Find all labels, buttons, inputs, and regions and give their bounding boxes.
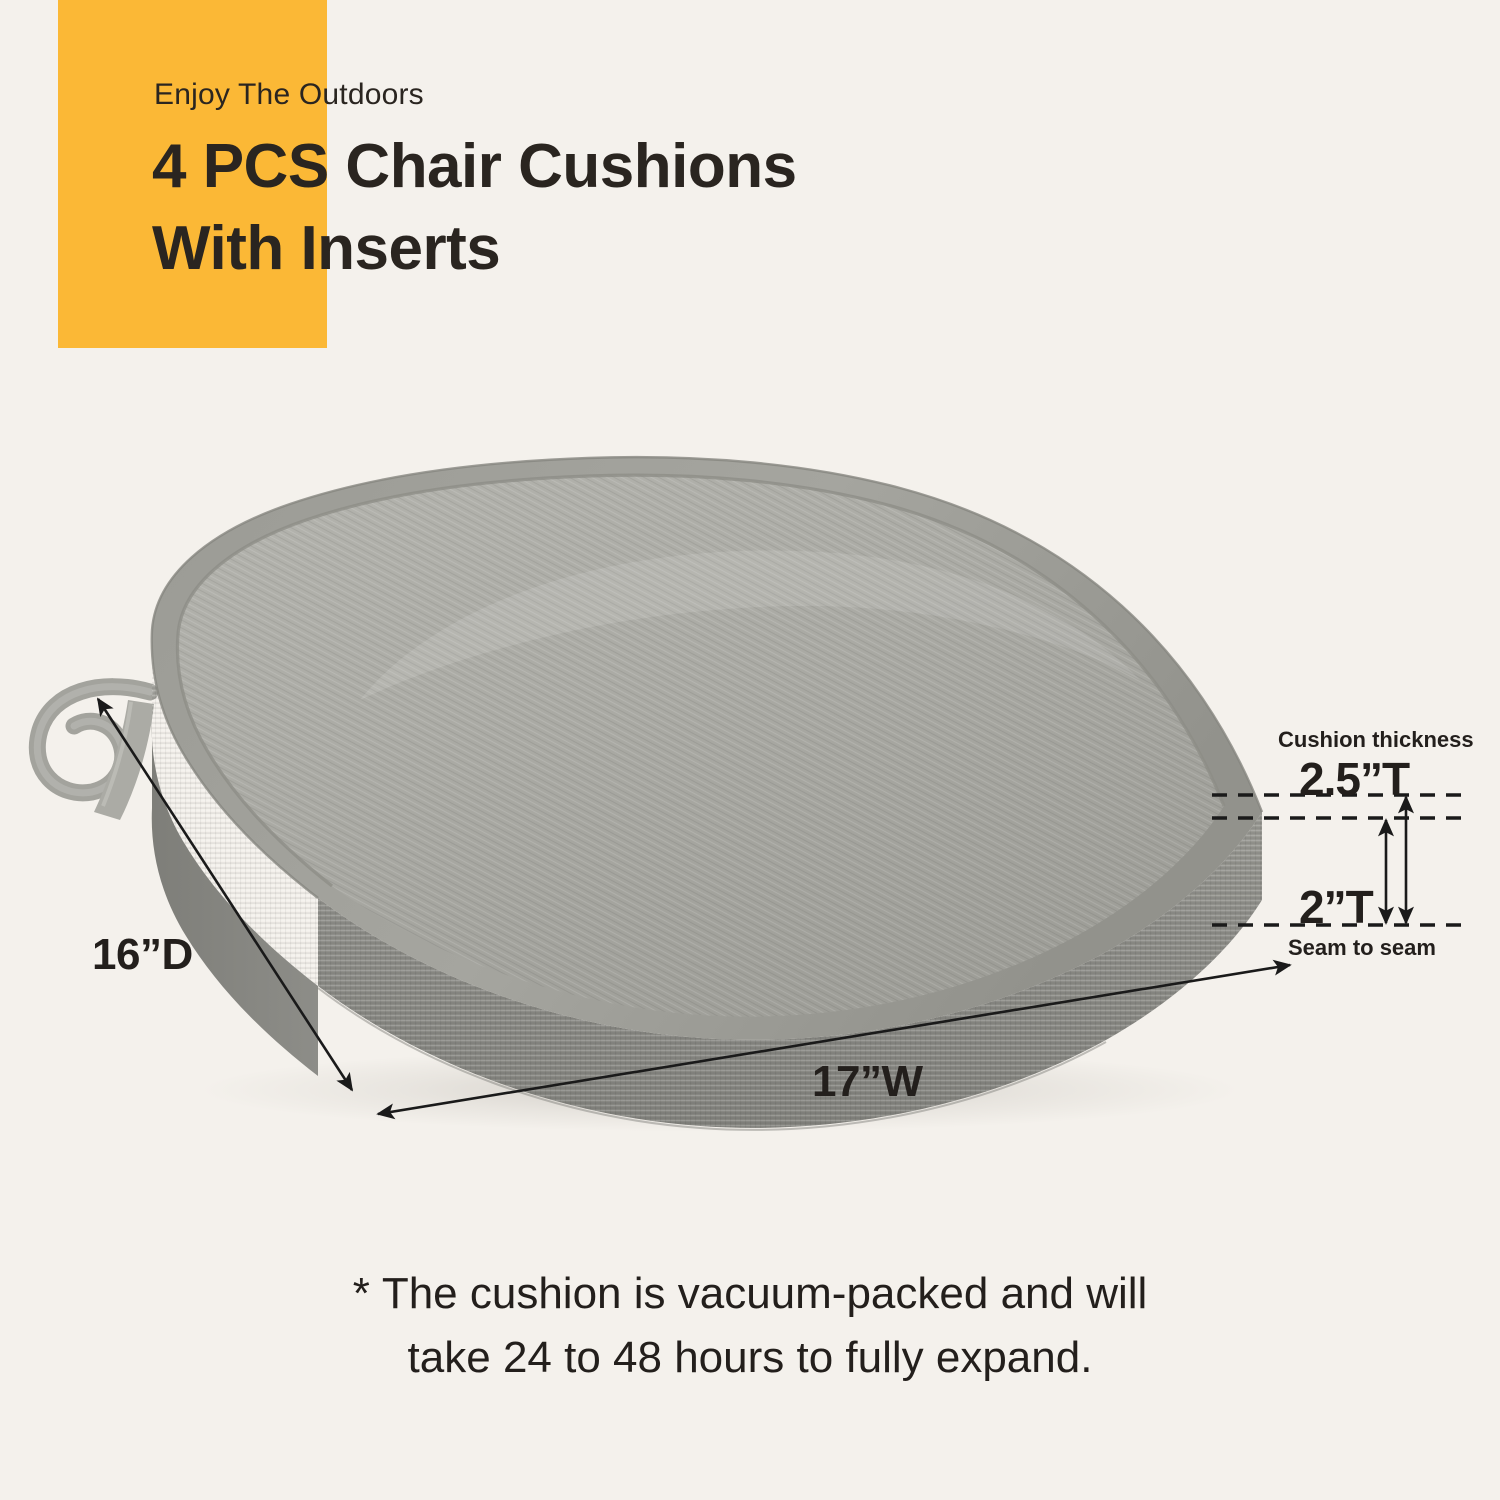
product-infographic: Enjoy The Outdoors 4 PCS Chair Cushions … (0, 0, 1500, 1500)
footnote-line-1: *The cushion is vacuum-packed and will (0, 1262, 1500, 1326)
seam-thickness-label: 2”T (1299, 880, 1373, 934)
footnote: *The cushion is vacuum-packed and will t… (0, 1262, 1500, 1390)
headline-line-1: 4 PCS Chair Cushions (152, 126, 1152, 208)
width-dimension-label: 17”W (812, 1057, 922, 1107)
thickness-arrows (1386, 797, 1406, 923)
total-thickness-label: 2.5”T (1299, 752, 1409, 806)
depth-dimension-label: 16”D (92, 930, 193, 980)
eyebrow-text: Enjoy The Outdoors (154, 78, 424, 112)
footnote-text-1: The cushion is vacuum-packed and will (382, 1269, 1148, 1318)
page-title: 4 PCS Chair Cushions With Inserts (152, 126, 1152, 290)
handle-loop-icon (37, 687, 154, 820)
cushion-thickness-caption: Cushion thickness (1278, 727, 1474, 753)
cushion-illustration (0, 400, 1500, 1160)
headline-line-2: With Inserts (152, 208, 1152, 290)
footnote-line-2: take 24 to 48 hours to fully expand. (0, 1326, 1500, 1390)
asterisk-icon: * (353, 1269, 382, 1318)
seam-to-seam-caption: Seam to seam (1288, 935, 1436, 961)
